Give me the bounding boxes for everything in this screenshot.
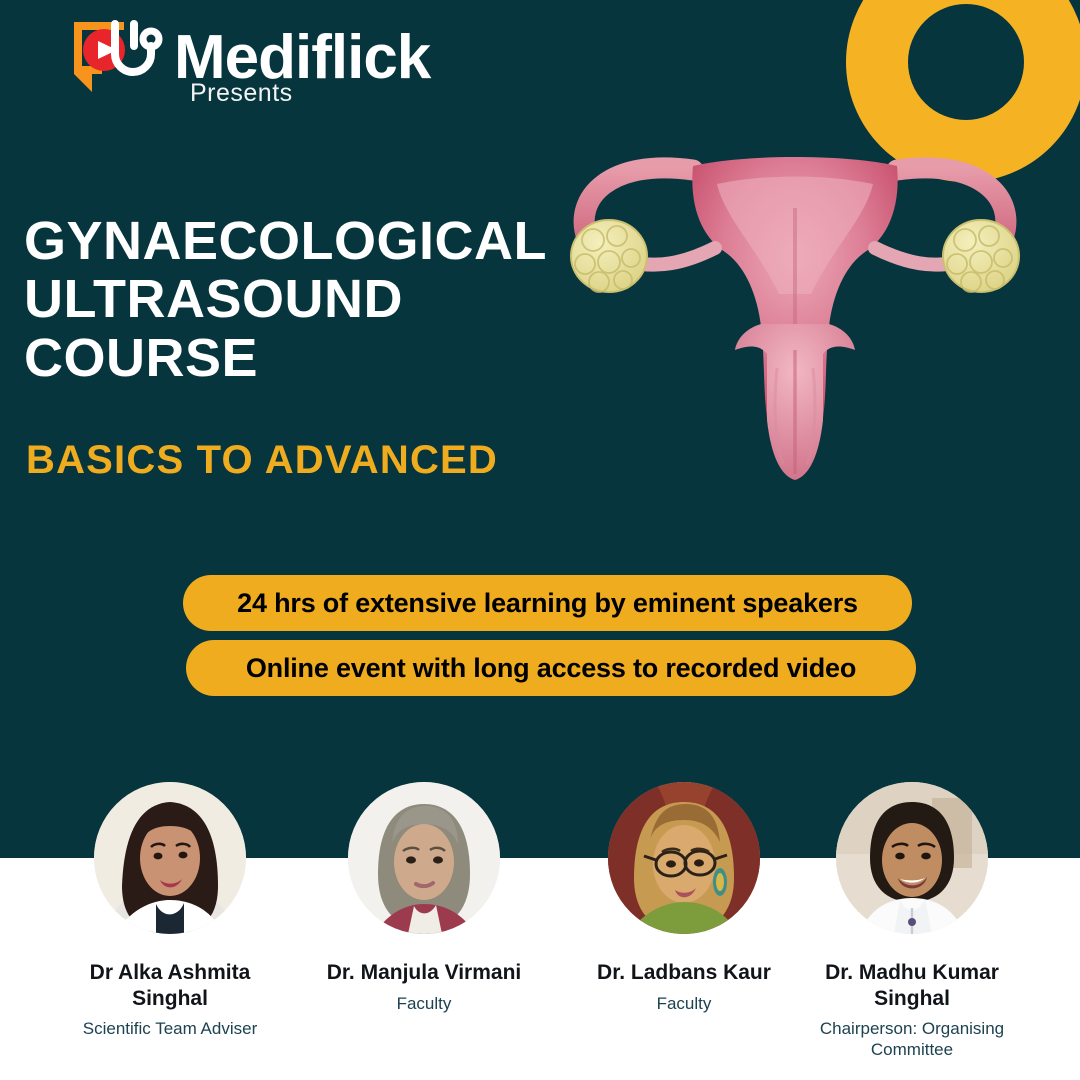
speaker-name: Dr Alka Ashmita Singhal — [55, 960, 285, 1011]
speaker-card: Dr. Manjula Virmani Faculty — [309, 782, 539, 1014]
speaker-role: Scientific Team Adviser — [55, 1018, 285, 1039]
course-promo-poster: Mediflick Presents GYNAECOLOGICAL ULTRAS… — [0, 0, 1080, 1080]
speaker-card: Dr. Ladbans Kaur Faculty — [569, 782, 799, 1014]
speaker-role: Faculty — [309, 993, 539, 1014]
title-line-2: ULTRASOUND — [24, 270, 584, 328]
mediflick-logo-icon — [62, 12, 170, 104]
page-title: GYNAECOLOGICAL ULTRASOUND COURSE — [24, 212, 584, 387]
speaker-card: Dr Alka Ashmita Singhal Scientific Team … — [55, 782, 285, 1039]
speaker-name: Dr. Madhu Kumar Singhal — [797, 960, 1027, 1011]
title-line-3: COURSE — [24, 329, 584, 387]
speaker-photo-ladbans-kaur — [608, 782, 760, 934]
speaker-photo-madhu-kumar-singhal — [836, 782, 988, 934]
speaker-photo-manjula-virmani — [348, 782, 500, 934]
uterus-anatomy-illustration — [565, 88, 1025, 488]
speaker-role: Faculty — [569, 993, 799, 1014]
speaker-name: Dr. Manjula Virmani — [309, 960, 539, 986]
course-subtitle: BASICS TO ADVANCED — [26, 438, 498, 483]
speaker-photo-alka-ashmita-singhal — [94, 782, 246, 934]
speaker-name: Dr. Ladbans Kaur — [569, 960, 799, 986]
speaker-card: Dr. Madhu Kumar Singhal Chairperson: Org… — [797, 782, 1027, 1061]
speaker-role: Chairperson: Organising Committee — [797, 1018, 1027, 1061]
highlight-pill: Online event with long access to recorde… — [186, 640, 916, 696]
highlight-pill: 24 hrs of extensive learning by eminent … — [183, 575, 912, 631]
presents-label: Presents — [190, 79, 293, 108]
title-line-1: GYNAECOLOGICAL — [24, 212, 584, 270]
